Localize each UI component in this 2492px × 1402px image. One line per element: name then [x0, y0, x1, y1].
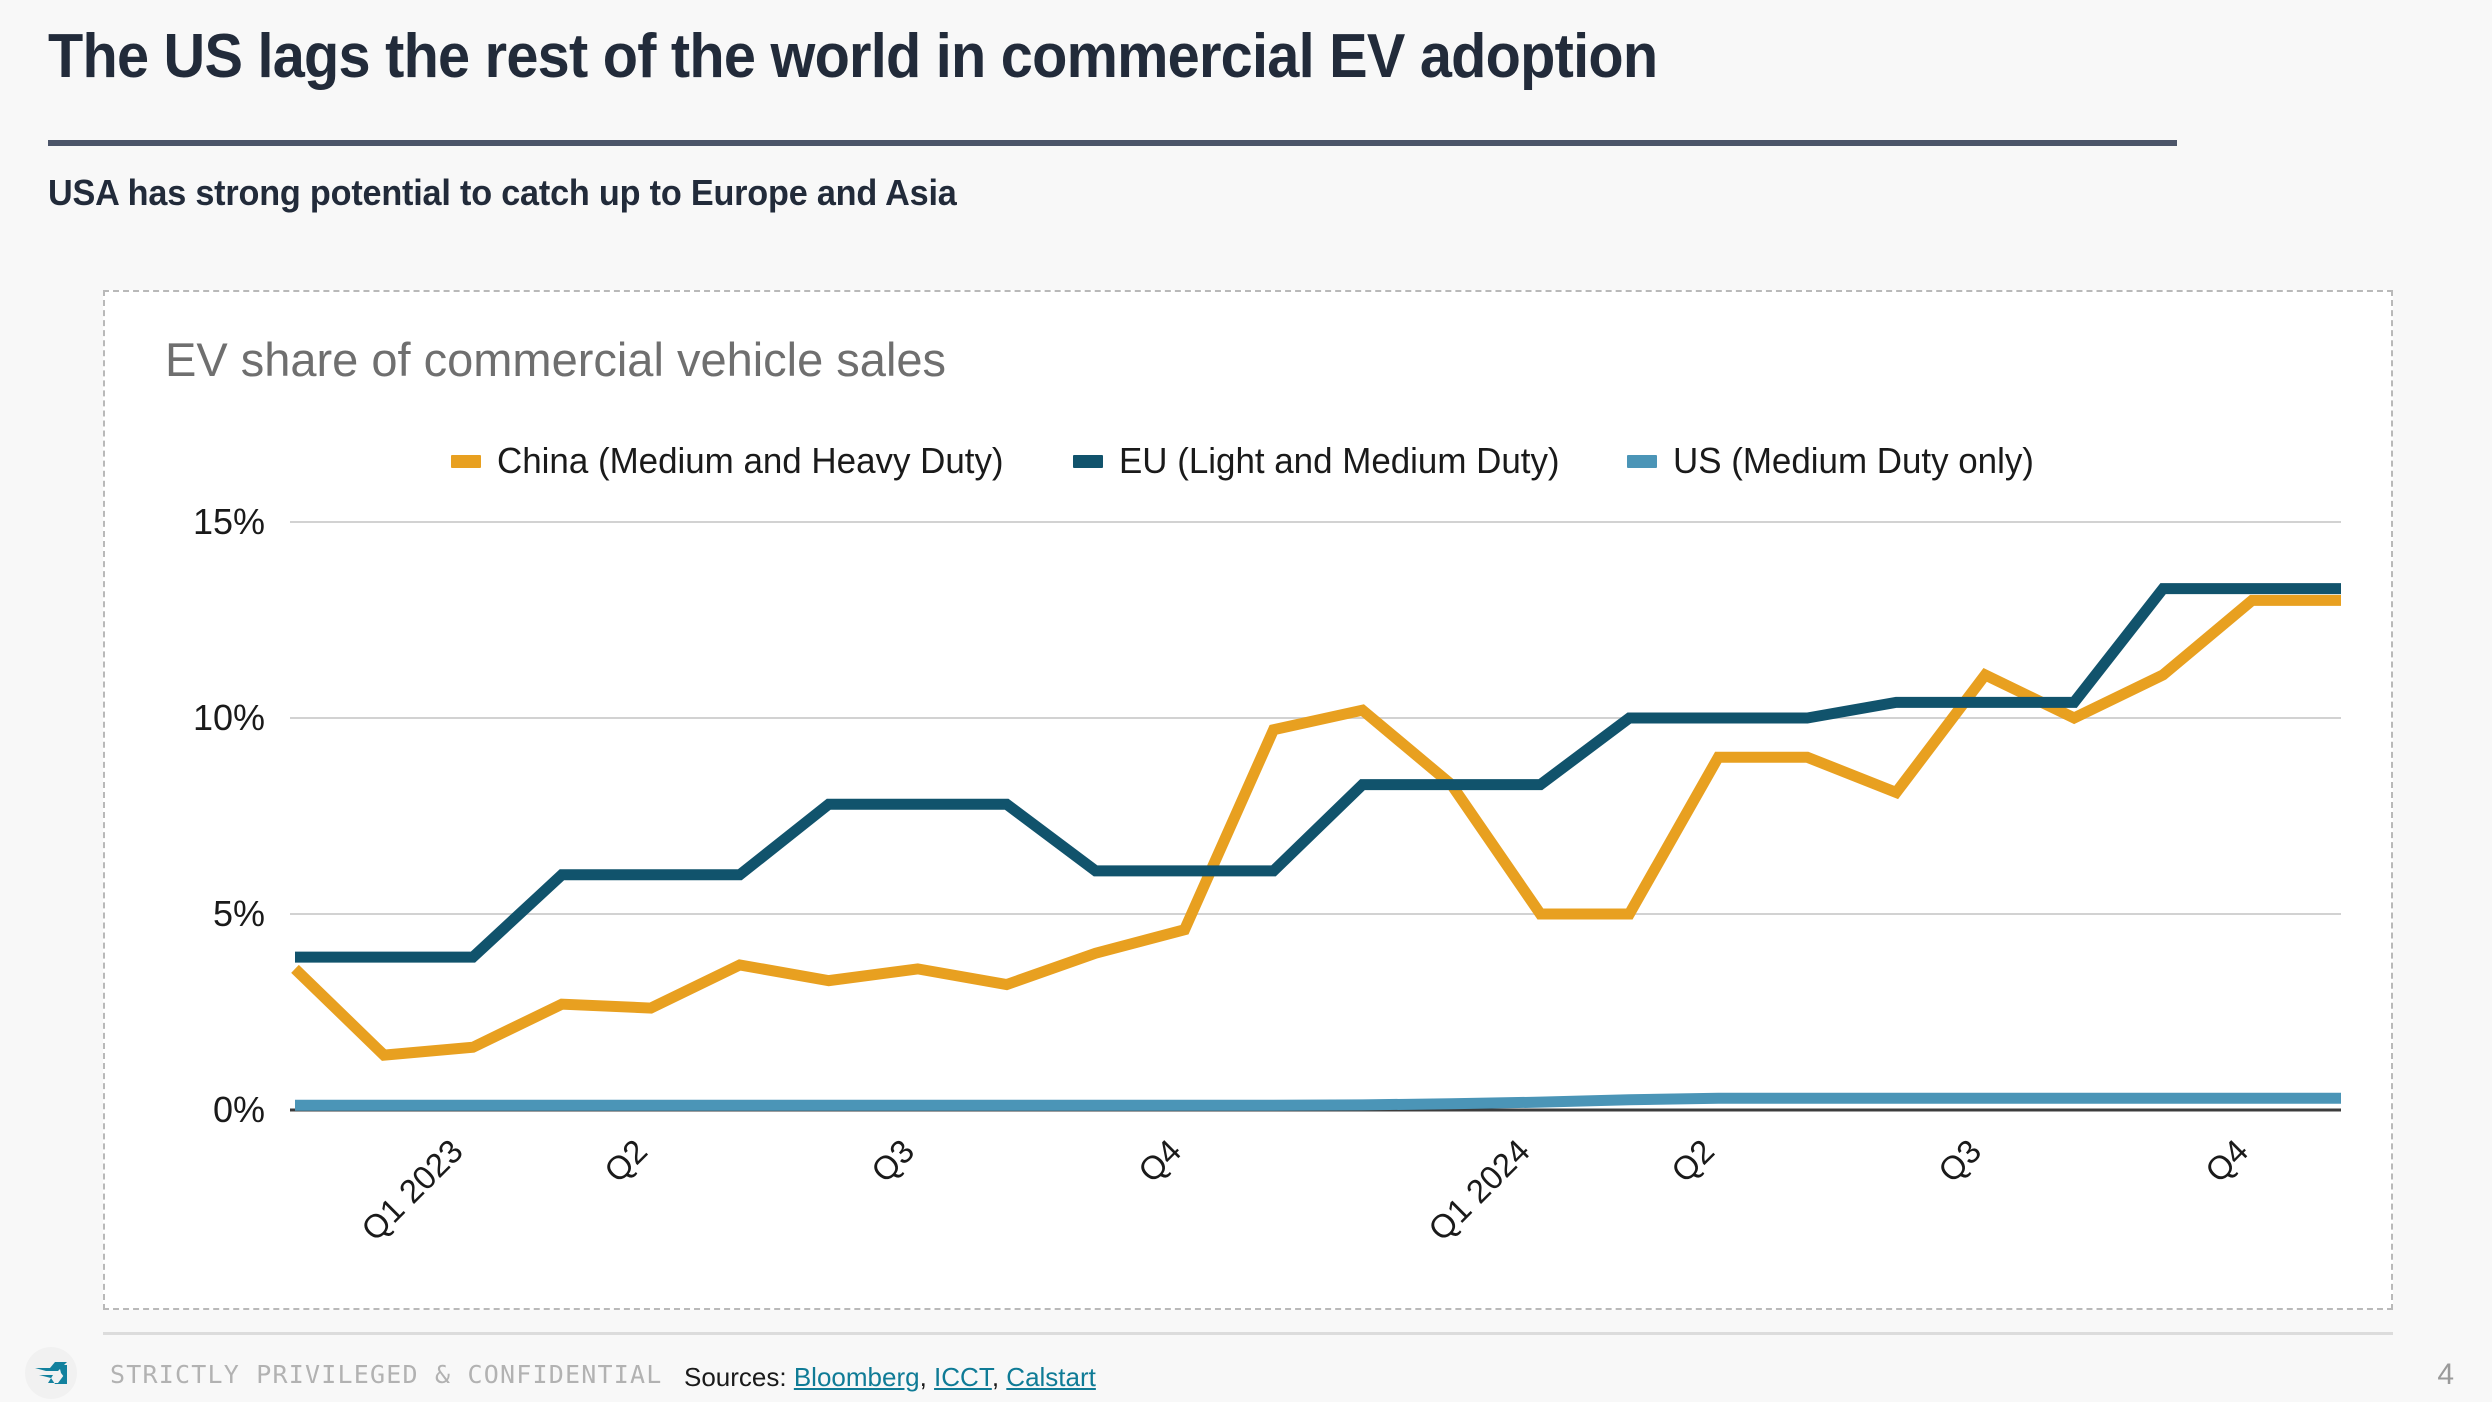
sources-sep-2: , [992, 1362, 999, 1392]
source-link-bloomberg[interactable]: Bloomberg [794, 1362, 920, 1392]
page-subtitle: USA has strong potential to catch up to … [48, 172, 957, 214]
plot-area: 0%5%10%15%Q1 2023Q2Q3Q4Q1 2024Q2Q3Q4 [105, 292, 2391, 1308]
sources-label: Sources: [684, 1362, 787, 1392]
sources-sep-1: , [920, 1362, 927, 1392]
bird-logo-glyph [33, 1359, 69, 1387]
title-divider [48, 140, 2177, 146]
sources-line: Sources: Bloomberg, ICCT, Calstart [684, 1362, 1096, 1393]
series-line-eu [295, 589, 2341, 957]
series-line-us [295, 1098, 2341, 1105]
y-axis-tick-label: 0% [135, 1089, 265, 1131]
confidentiality-notice: STRICTLY PRIVILEGED & CONFIDENTIAL [110, 1360, 663, 1389]
footer-divider [103, 1332, 2393, 1335]
page-title: The US lags the rest of the world in com… [48, 24, 2075, 89]
y-axis-tick-label: 15% [135, 501, 265, 543]
page-number: 4 [2437, 1358, 2454, 1392]
y-axis-tick-label: 5% [135, 893, 265, 935]
y-axis-tick-label: 10% [135, 697, 265, 739]
chart-container: EV share of commercial vehicle sales Chi… [103, 290, 2393, 1310]
source-link-icct[interactable]: ICCT [934, 1362, 992, 1392]
source-link-calstart[interactable]: Calstart [1006, 1362, 1096, 1392]
bird-logo-icon [25, 1347, 77, 1399]
